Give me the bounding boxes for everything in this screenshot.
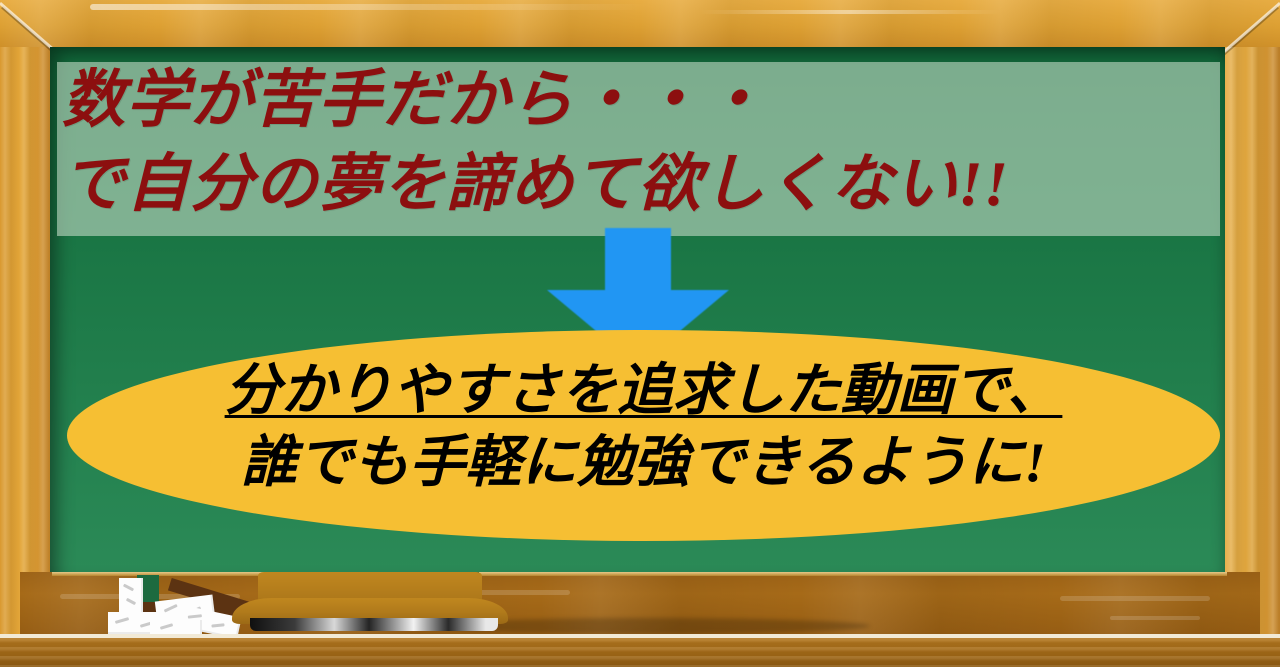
- tray-top-edge: [52, 572, 1227, 576]
- chalk-texture: [188, 614, 202, 618]
- chalk-texture: [211, 623, 224, 627]
- chalk-texture: [123, 584, 134, 592]
- headline-line-2: で自分の夢を諦めて欲しくない!!: [62, 149, 1009, 219]
- callout-line-1: 分かりやすさを追求した動画で、: [67, 355, 1220, 427]
- headline-text: 数学が苦手だから・・・ で自分の夢を諦めて欲しくない!!: [62, 58, 1222, 226]
- eraser-felt-pad: [250, 618, 498, 631]
- frame-right-rail: [1225, 0, 1280, 667]
- headline-line-1: 数学が苦手だから・・・: [62, 65, 766, 135]
- chalk-texture: [126, 598, 136, 605]
- frame-top-rail: [0, 0, 1280, 47]
- callout-line-2: 誰でも手軽に勉強できるように!: [67, 427, 1220, 499]
- chalk-texture: [115, 617, 129, 624]
- callout-text: 分かりやすさを追求した動画で、誰でも手軽に勉強できるように!: [67, 355, 1220, 499]
- chalk-texture: [164, 604, 178, 613]
- frame-highlight-left: [90, 4, 650, 10]
- chalk-texture: [160, 623, 173, 629]
- tray-grain-streak: [1060, 596, 1210, 601]
- frame-left-rail: [0, 0, 50, 667]
- blackboard-scene: 数学が苦手だから・・・ で自分の夢を諦めて欲しくない!! 分かりやすさを追求した…: [0, 0, 1280, 667]
- frame-highlight-right: [700, 10, 1000, 14]
- tray-front-board: [0, 638, 1280, 667]
- tray-grain-streak: [1110, 616, 1200, 620]
